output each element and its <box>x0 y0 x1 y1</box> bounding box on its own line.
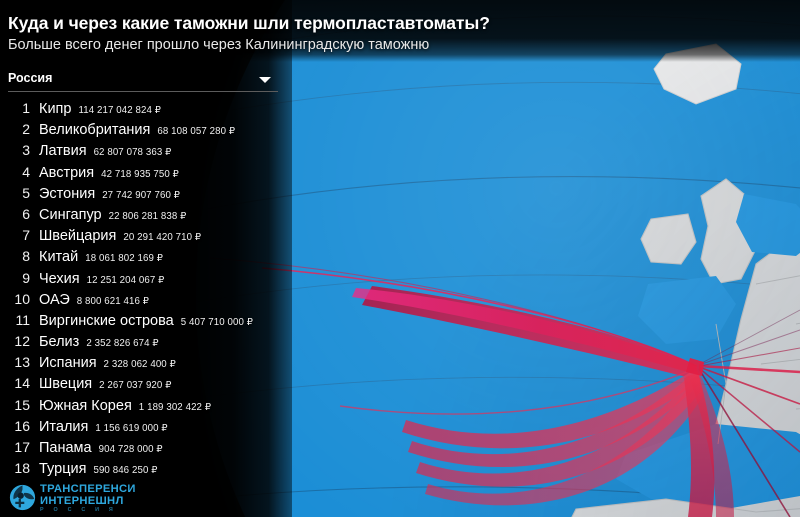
ranking-value: 904 728 000 ₽ <box>99 444 163 455</box>
ranking-country: Великобритания <box>39 122 150 138</box>
ranking-rank: 17 <box>8 439 30 455</box>
ranking-row[interactable]: 4Австрия42 718 935 750 ₽ <box>8 164 292 185</box>
ranking-row[interactable]: 3Латвия62 807 078 363 ₽ <box>8 142 292 163</box>
ranking-value: 12 251 204 067 ₽ <box>87 275 165 286</box>
ranking-row[interactable]: 5Эстония27 742 907 760 ₽ <box>8 185 292 206</box>
ranking-row[interactable]: 18Турция590 846 250 ₽ <box>8 460 292 481</box>
ranking-rank: 6 <box>8 206 30 222</box>
ranking-rank: 12 <box>8 333 30 349</box>
ranking-rank: 4 <box>8 164 30 180</box>
ranking-country: Кипр <box>39 101 71 117</box>
infographic-canvas: Куда и через какие таможни шли термоплас… <box>0 0 800 517</box>
ranking-country: Турция <box>39 461 86 477</box>
ranking-country: Италия <box>39 419 88 435</box>
ranking-value: 2 267 037 920 ₽ <box>99 380 171 391</box>
page-title: Куда и через какие таможни шли термоплас… <box>8 13 490 34</box>
ranking-rank: 2 <box>8 121 30 137</box>
ranking-value: 68 108 057 280 ₽ <box>157 126 235 137</box>
ranking-value: 2 328 062 400 ₽ <box>104 359 176 370</box>
ranking-row[interactable]: 6Сингапур22 806 281 838 ₽ <box>8 206 292 227</box>
ranking-value: 5 407 710 000 ₽ <box>181 317 253 328</box>
ranking-rank: 14 <box>8 375 30 391</box>
country-filter-dropdown[interactable]: Россия <box>8 69 278 92</box>
ranking-row[interactable]: 7Швейцария20 291 420 710 ₽ <box>8 227 292 248</box>
ranking-rank: 8 <box>8 248 30 264</box>
ranking-rank: 5 <box>8 185 30 201</box>
ranking-value: 18 061 802 169 ₽ <box>85 253 163 264</box>
ranking-rank: 7 <box>8 227 30 243</box>
ranking-country: Испания <box>39 355 97 371</box>
logo-line-3: Р О С С И Я <box>40 507 117 513</box>
ranking-country: Латвия <box>39 143 87 159</box>
organization-logo: ТРАНСПЕРЕНСИ ИНТЕРНЕШНЛ Р О С С И Я <box>9 483 169 513</box>
ranking-country: Панама <box>39 440 92 456</box>
ranking-rank: 16 <box>8 418 30 434</box>
page-subtitle: Больше всего денег прошло через Калининг… <box>8 37 429 53</box>
ranking-value: 20 291 420 710 ₽ <box>123 232 201 243</box>
ranking-row[interactable]: 9Чехия12 251 204 067 ₽ <box>8 270 292 291</box>
ranking-country: ОАЭ <box>39 292 70 308</box>
ranking-rank: 15 <box>8 397 30 413</box>
ranking-row[interactable]: 10ОАЭ8 800 621 416 ₽ <box>8 291 292 312</box>
ranking-country: Австрия <box>39 165 94 181</box>
ranking-rank: 3 <box>8 142 30 158</box>
ranking-row[interactable]: 11Виргинские острова5 407 710 000 ₽ <box>8 312 292 333</box>
logo-wordmark: ТРАНСПЕРЕНСИ ИНТЕРНЕШНЛ <box>40 483 136 507</box>
ranking-list: 1Кипр114 217 042 824 ₽2Великобритания68 … <box>8 100 292 481</box>
chevron-down-icon[interactable] <box>259 77 271 83</box>
ranking-country: Южная Корея <box>39 398 132 414</box>
ranking-row[interactable]: 2Великобритания68 108 057 280 ₽ <box>8 121 292 142</box>
ranking-row[interactable]: 13Испания2 328 062 400 ₽ <box>8 354 292 375</box>
ranking-value: 114 217 042 824 ₽ <box>78 105 161 116</box>
ranking-rank: 9 <box>8 270 30 286</box>
ranking-value: 42 718 935 750 ₽ <box>101 169 179 180</box>
ranking-row[interactable]: 16Италия1 156 619 000 ₽ <box>8 418 292 439</box>
ranking-value: 27 742 907 760 ₽ <box>102 190 180 201</box>
ranking-value: 590 846 250 ₽ <box>93 465 157 476</box>
ranking-country: Сингапур <box>39 207 102 223</box>
ranking-value: 22 806 281 838 ₽ <box>109 211 187 222</box>
ranking-country: Швеция <box>39 376 92 392</box>
ranking-rank: 10 <box>8 291 30 307</box>
ranking-rank: 18 <box>8 460 30 476</box>
ranking-country: Белиз <box>39 334 79 350</box>
globe-logo-icon <box>9 484 36 511</box>
ranking-row[interactable]: 15Южная Корея1 189 302 422 ₽ <box>8 397 292 418</box>
ranking-value: 2 352 826 674 ₽ <box>86 338 158 349</box>
ranking-row[interactable]: 17Панама904 728 000 ₽ <box>8 439 292 460</box>
ranking-country: Китай <box>39 249 78 265</box>
ranking-row[interactable]: 14Швеция2 267 037 920 ₽ <box>8 375 292 396</box>
logo-line-1: ТРАНСПЕРЕНСИ <box>40 483 136 495</box>
ranking-value: 62 807 078 363 ₽ <box>94 147 172 158</box>
ranking-value: 8 800 621 416 ₽ <box>77 296 149 307</box>
country-filter-value: Россия <box>8 71 52 85</box>
logo-line-2: ИНТЕРНЕШНЛ <box>40 495 136 507</box>
ranking-row[interactable]: 12Белиз2 352 826 674 ₽ <box>8 333 292 354</box>
ranking-country: Виргинские острова <box>39 313 174 329</box>
ranking-rank: 11 <box>8 312 30 328</box>
ranking-country: Эстония <box>39 186 95 202</box>
ranking-value: 1 189 302 422 ₽ <box>139 402 211 413</box>
ranking-country: Швейцария <box>39 228 116 244</box>
ranking-rank: 13 <box>8 354 30 370</box>
ranking-row[interactable]: 8Китай18 061 802 169 ₽ <box>8 248 292 269</box>
ranking-value: 1 156 619 000 ₽ <box>95 423 167 434</box>
ranking-country: Чехия <box>39 271 80 287</box>
ranking-row[interactable]: 1Кипр114 217 042 824 ₽ <box>8 100 292 121</box>
ranking-rank: 1 <box>8 100 30 116</box>
